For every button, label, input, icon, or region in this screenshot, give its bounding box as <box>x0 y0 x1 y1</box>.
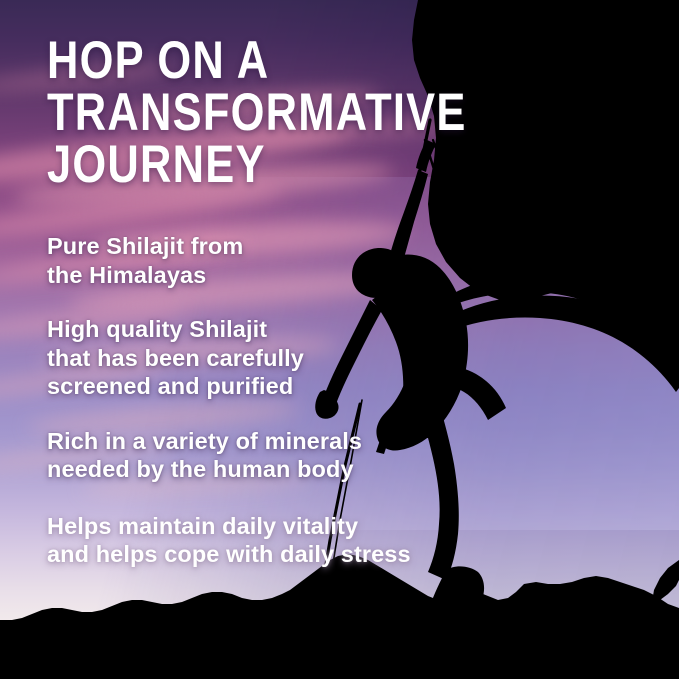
rocky-ridge-silhouette <box>0 554 679 679</box>
benefit-item: Helps maintain daily vitality and helps … <box>47 512 477 569</box>
rock-spur-silhouette <box>652 560 679 602</box>
benefit-item: Pure Shilajit from the Himalayas <box>47 232 477 289</box>
promo-poster: HOP ON A TRANSFORMATIVE JOURNEY Pure Shi… <box>0 0 679 679</box>
benefit-item: High quality Shilajit that has been care… <box>47 315 477 401</box>
page-title: HOP ON A TRANSFORMATIVE JOURNEY <box>47 35 467 191</box>
benefit-item: Rich in a variety of minerals needed by … <box>47 427 477 484</box>
